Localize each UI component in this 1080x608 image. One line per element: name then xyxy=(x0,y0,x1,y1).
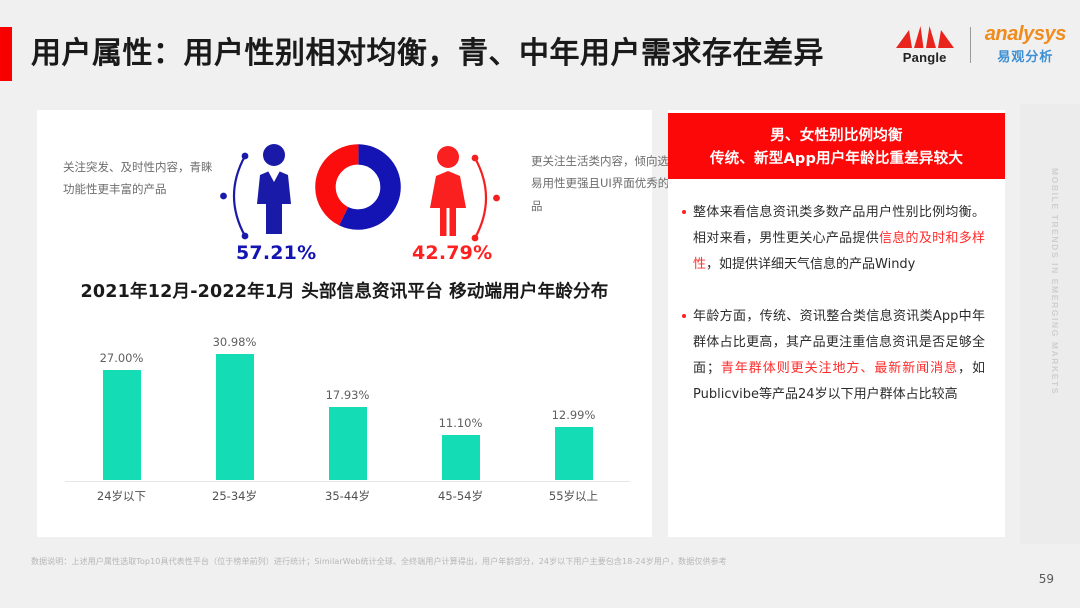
insight-bullet: 年龄方面，传统、资讯整合类信息资讯类App中年群体占比更高，其产品更注重信息资讯… xyxy=(682,304,985,408)
bar-column: 17.93% xyxy=(291,320,404,480)
female-percentage: 42.79% xyxy=(412,242,492,264)
body-text: ，如提供详细天气信息的产品Windy xyxy=(706,257,915,272)
right-bracket-icon xyxy=(471,152,501,244)
bar-column: 30.98% xyxy=(178,320,291,480)
x-axis-label: 35-44岁 xyxy=(291,488,404,504)
pangle-wordmark: Pangle xyxy=(903,50,947,65)
left-bracket-icon xyxy=(219,150,249,242)
bullet-dot-icon xyxy=(682,210,686,214)
bar-column: 27.00% xyxy=(65,320,178,480)
bar-column: 11.10% xyxy=(404,320,517,480)
page-title: 用户属性：用户性别相对均衡，青、中年用户需求存在差异 xyxy=(31,28,824,72)
bar-rect xyxy=(103,370,141,480)
bar-column: 12.99% xyxy=(517,320,630,480)
pangle-mountain-icon xyxy=(894,25,956,49)
panel-header-banner: 男、女性别比例均衡 传统、新型App用户年龄比重差异较大 xyxy=(668,113,1005,179)
bar-rect xyxy=(329,407,367,480)
highlighted-text: 青年群体则更关注地方、最新新闻消息 xyxy=(720,361,958,376)
x-axis-labels: 24岁以下25-34岁35-44岁45-54岁55岁以上 xyxy=(65,488,630,504)
insight-bullet: 整体来看信息资讯类多数产品用户性别比例均衡。相对来看，男性更关心产品提供信息的及… xyxy=(682,200,985,278)
logo-divider xyxy=(970,27,971,63)
footer-note: 数据说明：上述用户属性选取Top10具代表性平台（位于榜单前列）进行统计；Sim… xyxy=(31,556,991,567)
panel-header-line1: 男、女性别比例均衡 xyxy=(770,124,902,145)
insight-bullet-text: 年龄方面，传统、资讯整合类信息资讯类App中年群体占比更高，其产品更注重信息资讯… xyxy=(693,304,985,408)
female-note-text: 更关注生活类内容，倾向选择易用性更强且UI界面优秀的产品 xyxy=(531,150,681,217)
side-vertical-label: MOBILE TRENDS IN EMERGING MARKETS xyxy=(1050,168,1060,395)
bullet-dot-icon xyxy=(682,314,686,318)
x-axis-label: 45-54岁 xyxy=(404,488,517,504)
logo-group: Pangle analysys 易观分析 xyxy=(894,24,1066,65)
bar-value-label: 12.99% xyxy=(552,408,596,422)
female-figure-icon xyxy=(427,144,469,240)
page-number: 59 xyxy=(1039,572,1054,586)
male-percentage: 57.21% xyxy=(236,242,316,264)
bar-chart-plot: 27.00%30.98%17.93%11.10%12.99% xyxy=(65,320,630,480)
gender-donut-chart xyxy=(315,144,401,230)
bar-value-label: 27.00% xyxy=(100,351,144,365)
x-axis-label: 25-34岁 xyxy=(178,488,291,504)
analysys-wordmark: analysys xyxy=(985,24,1066,45)
bar-rect xyxy=(216,354,254,480)
bar-value-label: 30.98% xyxy=(213,335,257,349)
bar-rect xyxy=(555,427,593,480)
bar-rect xyxy=(442,435,480,480)
insight-bullet-text: 整体来看信息资讯类多数产品用户性别比例均衡。相对来看，男性更关心产品提供信息的及… xyxy=(693,200,985,278)
analysys-logo: analysys 易观分析 xyxy=(985,24,1066,65)
gender-distribution-block: 关注突发、及时性内容，青睐功能性更丰富的产品 xyxy=(37,132,652,257)
analysys-chinese-name: 易观分析 xyxy=(997,46,1053,65)
male-figure-icon xyxy=(253,142,295,238)
bar-chart-title: 2021年12月-2022年1月 头部信息资讯平台 移动端用户年龄分布 xyxy=(37,278,652,303)
x-axis-line xyxy=(65,481,630,482)
x-axis-label: 55岁以上 xyxy=(517,488,630,504)
slide-root: 用户属性：用户性别相对均衡，青、中年用户需求存在差异 Pangle analys… xyxy=(0,0,1080,608)
title-accent-bar xyxy=(0,27,12,81)
x-axis-label: 24岁以下 xyxy=(65,488,178,504)
bar-series: 27.00%30.98%17.93%11.10%12.99% xyxy=(65,320,630,480)
panel-header-line2: 传统、新型App用户年龄比重差异较大 xyxy=(710,147,963,168)
insight-bullet-list: 整体来看信息资讯类多数产品用户性别比例均衡。相对来看，男性更关心产品提供信息的及… xyxy=(668,200,1005,434)
left-content-card: 关注突发、及时性内容，青睐功能性更丰富的产品 xyxy=(37,110,652,537)
male-note-text: 关注突发、及时性内容，青睐功能性更丰富的产品 xyxy=(63,156,213,201)
bar-value-label: 11.10% xyxy=(439,416,483,430)
bar-value-label: 17.93% xyxy=(326,388,370,402)
pangle-logo: Pangle xyxy=(894,25,956,65)
